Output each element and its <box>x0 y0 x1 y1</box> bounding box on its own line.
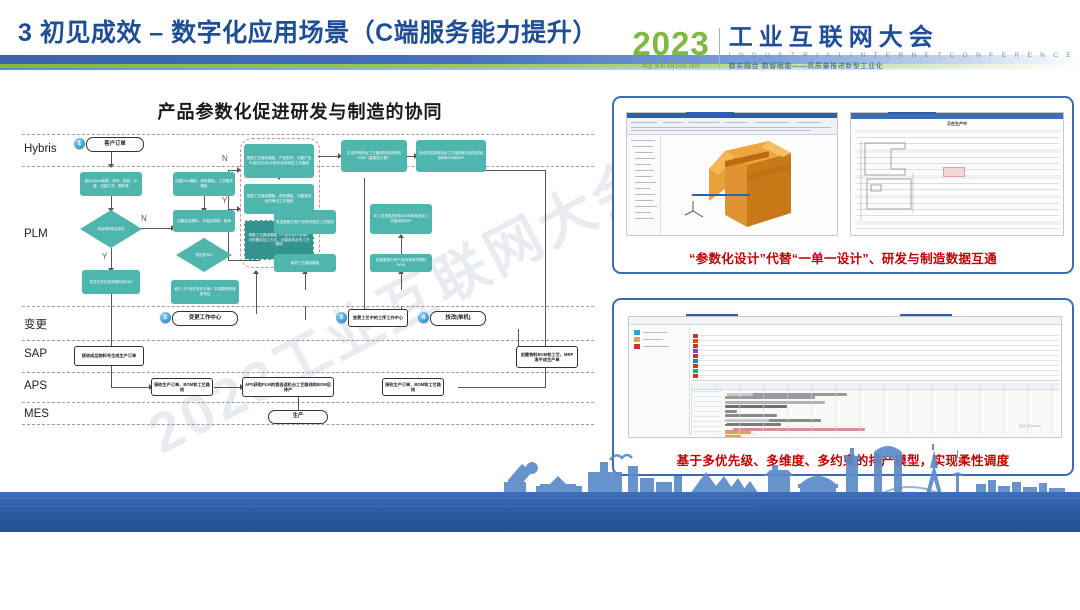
arrow <box>237 206 241 212</box>
lane-divider <box>22 424 594 425</box>
cad-model-tree[interactable] <box>628 136 661 234</box>
swimlanes: Hybris PLM 变更 SAP APS MES <box>8 134 594 424</box>
logo-year: 2023 <box>632 27 709 60</box>
branch-label-no: N <box>222 154 228 163</box>
node-auto-send-sap[interactable]: 自动发送各款机台工艺路线和对应的成品物料BOM到SAP <box>416 140 486 172</box>
node-mes-receive[interactable]: 接收生产订单、BOM和工艺路线 <box>382 378 444 396</box>
decision-material-exists[interactable]: 成品物料是否存在 <box>80 210 142 248</box>
flowchart-region: 产品参数化促进研发与制造的协同 2023工业互联网大会 Hybris PLM 变… <box>0 82 600 452</box>
page-title: 3 初见成效 – 数字化应用场景（C端服务能力提升） <box>18 13 598 49</box>
swimlane-label-hybris: Hybris <box>24 143 57 155</box>
node-change-process-center[interactable]: 变更工艺中的工序工作中心 <box>348 309 408 327</box>
logo-name-en: I N D U S T R I A L I N T E R N E T C O … <box>729 52 1074 59</box>
node-batch-update-routes[interactable]: 批量更新已有产品所有相关工艺路线 <box>274 210 336 234</box>
node-route-product[interactable]: 按照工艺路线模板、产品型号，创建产品半成件(达标)中各机台的特性工艺路线 <box>244 144 314 178</box>
connector <box>305 306 306 320</box>
step-badge-4: 4 <box>418 312 429 323</box>
step-badge-3: 3 <box>336 312 347 323</box>
lane-divider <box>22 306 594 307</box>
node-aps-schedule[interactable]: APS获取PLM的首选适机台工艺路线和BOM后排产 <box>242 377 334 397</box>
arrow <box>237 167 241 173</box>
node-create-sku[interactable]: 创建SKU编码、颜色模板、工艺路线模板 <box>173 172 235 196</box>
connector <box>111 248 112 270</box>
connector <box>111 294 112 348</box>
node-maintain-route-template[interactable]: 维护工艺路线模板 <box>274 254 336 272</box>
logo-year-subtitle: 中国·苏州 9月14日-18日 <box>642 63 700 70</box>
step-badge-2: 2 <box>160 312 171 323</box>
lane-divider <box>22 402 594 403</box>
conference-logo: 2023 中国·苏州 9月14日-18日 工业互联网大会 I N D U S T… <box>632 22 1074 74</box>
node-revise-dev-order[interactable]: 修订《产品开发作业单》中的模具和造型特征 <box>171 280 239 304</box>
aps-screenshot: 激活 Windows <box>628 316 1062 438</box>
node-receive-params[interactable]: 接收hybris参数：型号、颜色、长度、包装方式、隔热条 <box>80 172 142 196</box>
lane-divider <box>22 134 594 135</box>
lane-divider <box>22 372 594 373</box>
panel-caption-rnd: “参数化设计”代替“一单一设计”、研发与制造数据互通 <box>614 248 1072 267</box>
connector <box>228 260 260 261</box>
swimlane-label-mes: MES <box>24 408 49 420</box>
swimlane-label-sap: SAP <box>24 348 47 360</box>
connector <box>305 274 306 290</box>
swimlane-label-plm: PLM <box>24 228 48 240</box>
aps-gantt-chart[interactable]: 激活 Windows <box>691 383 1059 435</box>
branch-label-yes: Y <box>222 196 227 205</box>
panel-rnd-manufacturing: 正在生产中 研发与制造一体化 “参数化设计”代替“一单一设计”、研发与制造数据互… <box>612 96 1074 274</box>
connector <box>318 156 340 157</box>
logo-name-cn: 工业互联网大会 <box>729 26 1074 50</box>
arrow <box>398 234 404 238</box>
node-aps-receive[interactable]: 接收生产订单、BOM和工艺路线 <box>151 378 213 396</box>
connector <box>214 387 242 388</box>
aluminium-extrusion-3d-model <box>673 139 823 235</box>
node-customer-order[interactable]: 客户订单 <box>86 137 144 152</box>
footer-water-band <box>0 492 1080 532</box>
node-create-bom[interactable]: 创建成品物料、半成品物料、报单 <box>173 210 235 232</box>
node-send-existing-to-sap[interactable]: 发送已存在成品物料到SAP <box>82 270 140 294</box>
node-produce[interactable]: 生产 <box>268 410 328 424</box>
branch-label-yes: Y <box>102 252 107 261</box>
flowchart-heading: 产品参数化促进研发与制造的协同 <box>0 98 600 124</box>
node-change-work-center[interactable]: 变更工作中心 <box>172 311 238 326</box>
node-sap-production-order[interactable]: 接收成品物料号生成生产订单 <box>74 346 144 366</box>
arrow <box>253 270 259 274</box>
erp-screenshot: 正在生产中 <box>850 112 1064 236</box>
logo-year-block: 2023 中国·苏州 9月14日-18日 <box>632 27 718 70</box>
node-generate-bom[interactable]: 生成所有机台工艺路线的成品物料BOM（金属性计算） <box>341 140 407 172</box>
decision-is-sku[interactable]: 是否是SKU <box>176 238 232 272</box>
connector <box>401 274 402 290</box>
arrow <box>108 164 114 168</box>
connector <box>503 387 545 388</box>
lane-divider <box>22 340 594 341</box>
panel-rule-right-2 <box>900 314 952 316</box>
panel-rule-right <box>888 112 936 114</box>
aps-toolbar <box>629 317 1061 325</box>
connector <box>256 274 257 314</box>
node-batch-update-bom[interactable]: 批量更新已有产品所有相关物料BOM <box>370 254 432 272</box>
swimlane-label-aps: APS <box>24 380 47 392</box>
erp-titlebar <box>851 113 1063 119</box>
connector <box>364 178 365 316</box>
page-footer <box>0 440 1080 532</box>
erp-profile-drawing <box>857 133 927 229</box>
aps-task-table[interactable] <box>691 326 1059 381</box>
logo-name-block: 工业互联网大会 I N D U S T R I A L I N T E R N … <box>720 26 1074 71</box>
connector <box>111 387 151 388</box>
erp-screen-title: 正在生产中 <box>851 121 1063 127</box>
step-badge-1: 1 <box>74 138 85 149</box>
aps-sidebar[interactable] <box>631 326 690 435</box>
connector <box>545 170 546 348</box>
swimlane-label-change: 变更 <box>24 316 47 332</box>
erp-highlight-cell <box>943 167 965 177</box>
page-header: 3 初见成效 – 数字化应用场景（C端服务能力提升） 2023 中国·苏州 9月… <box>0 0 1080 78</box>
branch-label-no: N <box>141 214 147 223</box>
cad-screenshot <box>626 112 838 236</box>
node-manual-send-sap[interactable]: 手工发送成品物料BOM和各机台工艺路线到SAP <box>370 204 432 234</box>
node-create-material-bom-mrp[interactable]: 创建物料BOM和工艺，MRP滚平成生产单 <box>516 346 578 368</box>
panel-rule-left <box>686 112 734 114</box>
city-skyline-graphic <box>240 440 1080 494</box>
node-tech-upgrade[interactable]: 技改(单机) <box>430 311 486 326</box>
logo-slogan: 数实融合 数智赋能——高质量推进新型工业化 <box>729 61 1074 71</box>
panel-rule-left-2 <box>686 314 738 316</box>
